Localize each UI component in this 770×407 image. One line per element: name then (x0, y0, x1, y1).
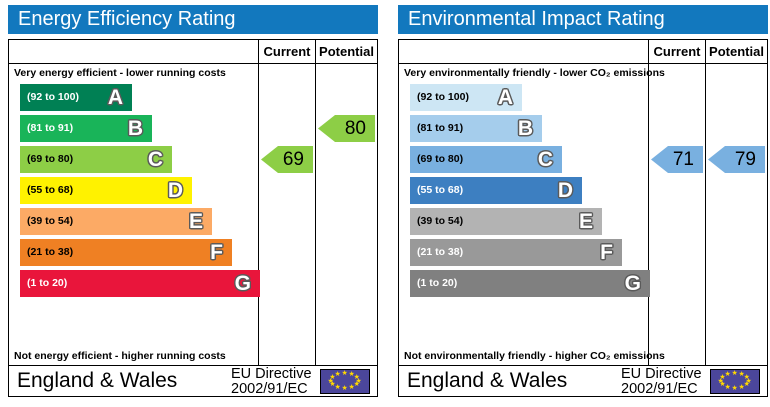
band-letter-label: G (235, 270, 251, 297)
column-header-current-energy: Current (258, 40, 315, 63)
footer-directive-environmental: EU Directive 2002/91/EC (621, 366, 706, 397)
footer-environmental: England & Wales EU Directive 2002/91/EC (399, 366, 767, 396)
band-letter-label: C (148, 146, 163, 173)
eu-flag-icon-environmental (710, 369, 760, 394)
footer-directive-energy: EU Directive 2002/91/EC (231, 366, 316, 397)
environmental-impact-rating-chart: Environmental Impact Rating Current Pote… (398, 5, 768, 399)
band-letter-label: C (538, 146, 553, 173)
band-letter-label: B (518, 115, 533, 142)
band-range-label: (69 to 80) (417, 146, 463, 173)
rating-band-e-environmental: (39 to 54)E (410, 208, 602, 235)
directive-line-1-energy: EU Directive (231, 367, 316, 382)
rating-band-b-energy: (81 to 91)B (20, 115, 152, 142)
column-header-row-energy: Current Potential (9, 40, 377, 64)
band-range-label: (21 to 38) (27, 239, 73, 266)
band-letter-label: A (108, 84, 123, 111)
band-range-label: (92 to 100) (417, 84, 469, 111)
band-range-label: (39 to 54) (417, 208, 463, 235)
rating-band-b-environmental: (81 to 91)B (410, 115, 542, 142)
band-letter-label: A (498, 84, 513, 111)
band-letter-label: F (210, 239, 223, 266)
band-range-label: (81 to 91) (417, 115, 463, 142)
rating-band-g-energy: (1 to 20)G (20, 270, 260, 297)
column-divider-potential-energy (315, 64, 316, 365)
band-range-label: (55 to 68) (417, 177, 463, 204)
caption-top-environmental: Very environmentally friendly - lower CO… (404, 67, 665, 79)
rating-band-f-energy: (21 to 38)F (20, 239, 232, 266)
band-range-label: (69 to 80) (27, 146, 73, 173)
rating-band-c-energy: (69 to 80)C (20, 146, 172, 173)
directive-line-1-environmental: EU Directive (621, 367, 706, 382)
column-divider-potential-environmental (705, 64, 706, 365)
band-range-label: (55 to 68) (27, 177, 73, 204)
band-letter-label: G (625, 270, 641, 297)
band-letter-label: E (189, 208, 203, 235)
band-letter-label: B (128, 115, 143, 142)
rating-band-a-energy: (92 to 100)A (20, 84, 132, 111)
chart-body-environmental: Current Potential Very environmentally f… (398, 39, 768, 397)
chart-title-energy: Energy Efficiency Rating (8, 5, 378, 34)
caption-top-energy: Very energy efficient - lower running co… (14, 67, 226, 79)
rating-band-g-environmental: (1 to 20)G (410, 270, 650, 297)
band-letter-label: D (558, 177, 573, 204)
band-letter-label: D (168, 177, 183, 204)
caption-bottom-energy: Not energy efficient - higher running co… (14, 350, 226, 362)
band-range-label: (1 to 20) (417, 270, 457, 297)
caption-bottom-environmental: Not environmentally friendly - higher CO… (404, 350, 665, 362)
energy-efficiency-rating-chart: Energy Efficiency Rating Current Potenti… (8, 5, 378, 399)
column-header-potential-energy: Potential (315, 40, 377, 63)
band-range-label: (21 to 38) (417, 239, 463, 266)
current-rating-arrow-environmental: 71 (651, 146, 703, 173)
footer-energy: England & Wales EU Directive 2002/91/EC (9, 366, 377, 396)
rating-band-d-environmental: (55 to 68)D (410, 177, 582, 204)
rating-band-f-environmental: (21 to 38)F (410, 239, 622, 266)
column-header-row-environmental: Current Potential (399, 40, 767, 64)
directive-line-2-environmental: 2002/91/EC (621, 382, 706, 397)
chart-body-energy: Current Potential Very energy efficient … (8, 39, 378, 397)
rating-band-e-energy: (39 to 54)E (20, 208, 212, 235)
chart-title-environmental: Environmental Impact Rating (398, 5, 768, 34)
column-header-current-environmental: Current (648, 40, 705, 63)
column-header-potential-environmental: Potential (705, 40, 767, 63)
directive-line-2-energy: 2002/91/EC (231, 382, 316, 397)
band-letter-label: F (600, 239, 613, 266)
current-rating-arrow-energy: 69 (261, 146, 313, 173)
potential-rating-arrow-energy: 80 (318, 115, 375, 142)
rating-band-c-environmental: (69 to 80)C (410, 146, 562, 173)
rating-bands-environmental: (92 to 100)A(81 to 91)B(69 to 80)C(55 to… (410, 84, 650, 301)
band-letter-label: E (579, 208, 593, 235)
epc-chart-page: Energy Efficiency Rating Current Potenti… (0, 0, 770, 407)
band-range-label: (1 to 20) (27, 270, 67, 297)
eu-flag-icon-energy (320, 369, 370, 394)
footer-region-energy: England & Wales (17, 366, 177, 396)
band-range-label: (39 to 54) (27, 208, 73, 235)
band-range-label: (81 to 91) (27, 115, 73, 142)
rating-band-a-environmental: (92 to 100)A (410, 84, 522, 111)
rating-bands-energy: (92 to 100)A(81 to 91)B(69 to 80)C(55 to… (20, 84, 260, 301)
footer-region-environmental: England & Wales (407, 366, 567, 396)
potential-rating-arrow-environmental: 79 (708, 146, 765, 173)
rating-band-d-energy: (55 to 68)D (20, 177, 192, 204)
band-range-label: (92 to 100) (27, 84, 79, 111)
